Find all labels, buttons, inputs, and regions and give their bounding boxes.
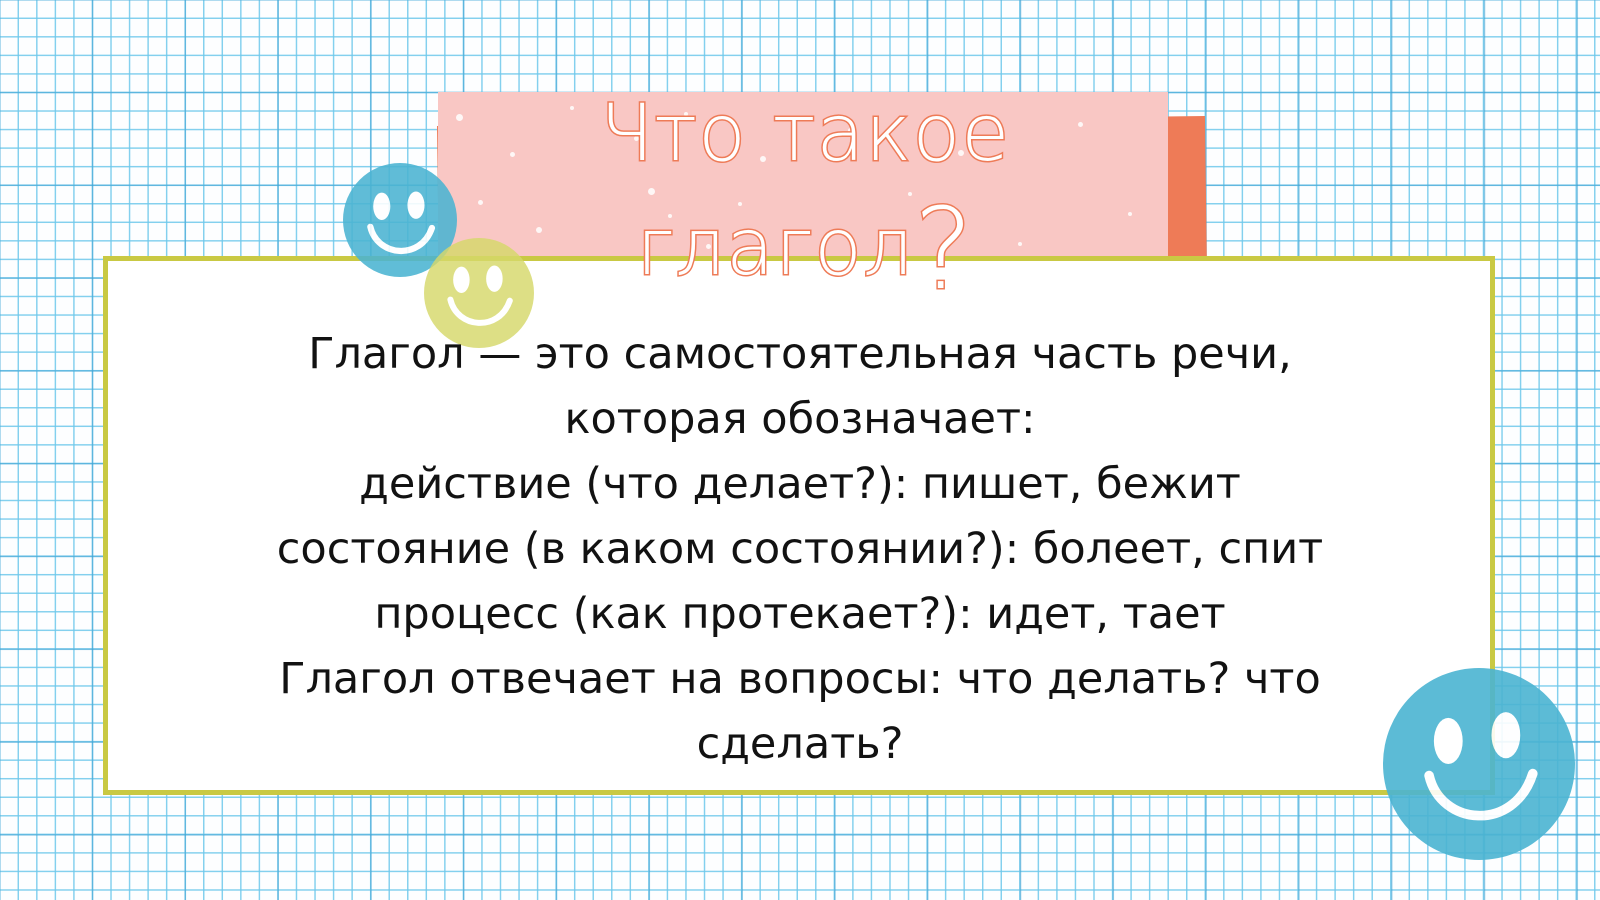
speckle (706, 244, 711, 249)
speckle (908, 192, 912, 196)
speckle (848, 128, 853, 133)
speckle (1018, 242, 1022, 246)
speckle (668, 214, 672, 218)
speckle (1128, 212, 1132, 216)
speckle (478, 200, 483, 205)
speckle (958, 150, 964, 156)
slide-canvas: Что такое глагол? Глагол — это самостоят… (0, 0, 1600, 900)
speckle (684, 112, 688, 116)
speckle (738, 202, 742, 206)
speckle (456, 114, 463, 121)
speckle (634, 136, 639, 141)
speckle (648, 188, 655, 195)
speckle (536, 227, 542, 233)
body-text: Глагол — это самостоятельная часть речи,… (150, 322, 1450, 777)
speckle (760, 156, 766, 162)
speckle (1078, 122, 1083, 127)
speckle (570, 106, 574, 110)
speckle (510, 152, 515, 157)
